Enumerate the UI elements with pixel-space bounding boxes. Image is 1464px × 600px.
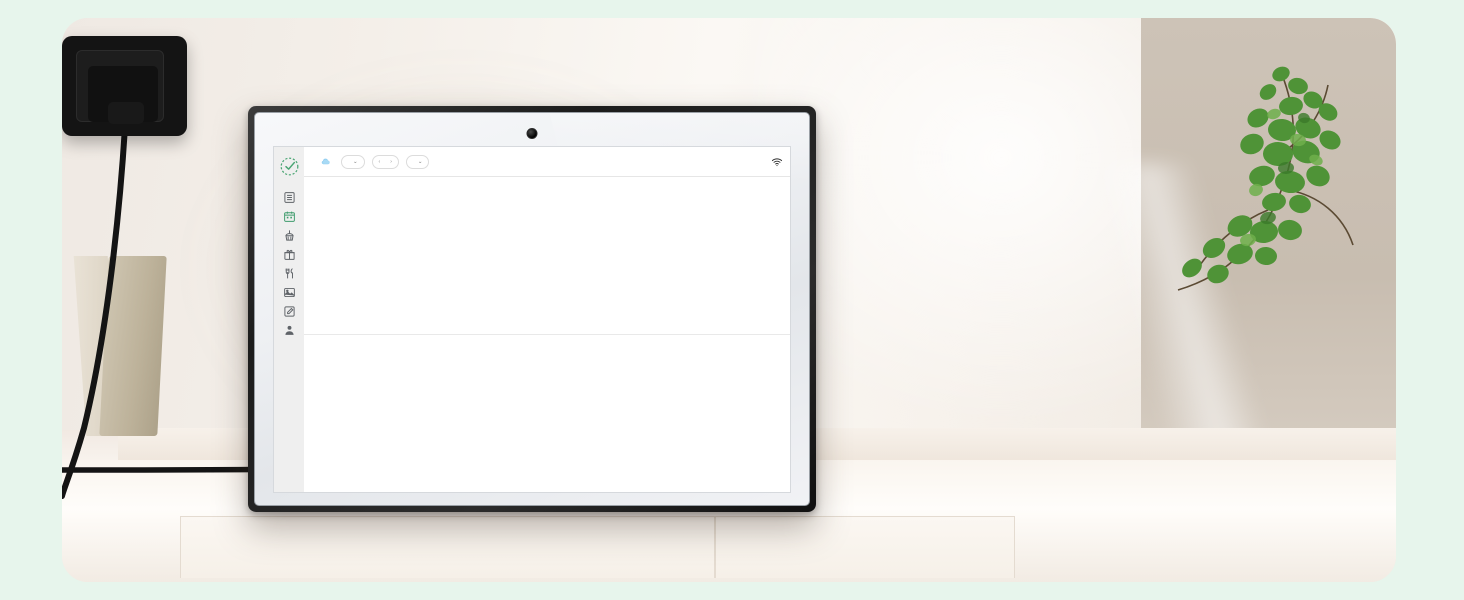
chevron-right-icon[interactable]: › [390,159,392,165]
chevron-down-icon: ⌄ [353,159,358,165]
sidebar-item-rewards[interactable] [275,248,303,262]
calendar-icon [283,210,296,223]
cloud-icon [320,156,331,167]
sidebar-item-chores[interactable] [275,229,303,243]
sidebar-item-calendar[interactable] [275,210,303,224]
fork-knife-icon [283,267,296,280]
weather-widget[interactable] [320,156,334,167]
sidebar-item-mine[interactable] [275,324,303,338]
app-logo-icon [278,155,300,177]
sideboard-drawer-left [180,516,715,578]
app-topbar: ⌄ ‹ › ⌄ [304,147,790,177]
marketing-copy [864,96,1284,114]
chevron-left-icon[interactable]: ‹ [379,159,381,165]
note-pencil-icon [283,305,296,318]
smart-display-device: ⌄ ‹ › ⌄ [248,106,816,512]
sidebar-item-photos[interactable] [275,286,303,300]
sidebar-nav [275,183,303,338]
week-grid [304,177,790,492]
app-main: ⌄ ‹ › ⌄ [304,147,790,492]
device-bezel: ⌄ ‹ › ⌄ [254,112,810,506]
app-sidebar [274,147,304,492]
sideboard-drawer-right [715,516,1015,578]
houseplant [1148,40,1388,330]
gift-icon [283,248,296,261]
adapter-cable-neck [108,102,144,124]
calendar-app: ⌄ ‹ › ⌄ [273,146,791,493]
person-icon [283,324,296,337]
front-camera [527,128,538,139]
view-mode-dropdown[interactable]: ⌄ [406,155,430,169]
sidebar-item-plans[interactable] [275,191,303,205]
wifi-icon[interactable] [771,156,783,168]
wall-outlet [62,36,187,136]
date-range-stepper[interactable]: ‹ › [372,155,399,169]
week-row-top [304,177,790,335]
list-grid-icon [283,191,296,204]
family-filter-dropdown[interactable]: ⌄ [341,155,365,169]
chevron-down-icon: ⌄ [418,159,423,165]
photo-icon [283,286,296,299]
week-row-bottom [304,335,790,492]
broom-icon [283,229,296,242]
sidebar-item-lists[interactable] [275,305,303,319]
sidebar-item-meals[interactable] [275,267,303,281]
